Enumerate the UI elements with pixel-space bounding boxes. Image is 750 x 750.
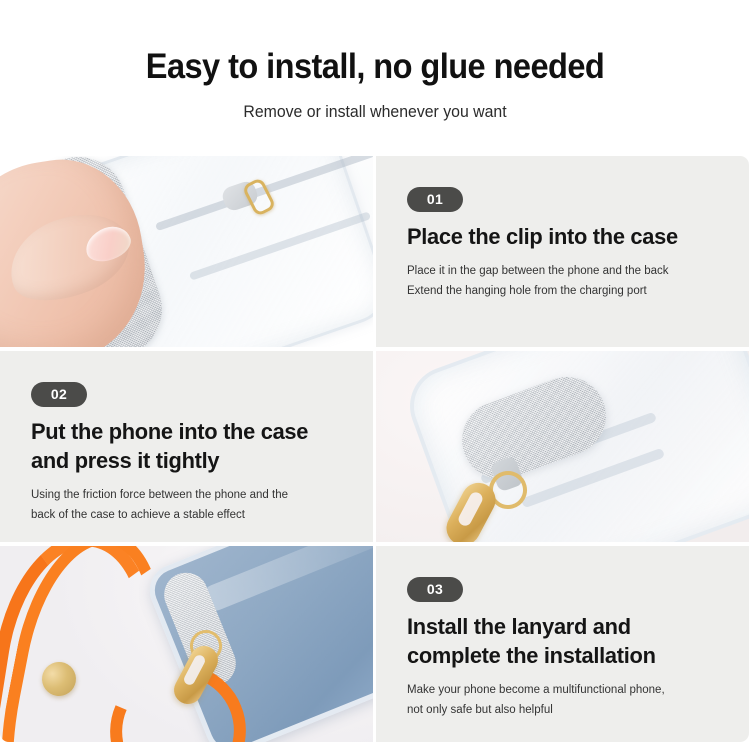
step-1-heading: Place the clip into the case bbox=[407, 222, 717, 251]
step-1-body: Place it in the gap between the phone an… bbox=[407, 261, 737, 301]
step-row-2: 02 Put the phone into the case and press… bbox=[0, 351, 750, 542]
step-1-body-line-2: Extend the hanging hole from the chargin… bbox=[407, 281, 737, 301]
step-2-badge: 02 bbox=[31, 382, 87, 407]
step-1-badge: 01 bbox=[407, 187, 463, 212]
step-3-text-panel: 03 Install the lanyard and complete the … bbox=[376, 546, 749, 742]
step-3-photo bbox=[0, 546, 373, 742]
header: Easy to install, no glue needed Remove o… bbox=[0, 0, 750, 122]
step-row-3: 03 Install the lanyard and complete the … bbox=[0, 546, 750, 742]
step-2-body-line-2: back of the case to achieve a stable eff… bbox=[31, 505, 361, 525]
step-1-photo bbox=[0, 156, 373, 347]
step-3-body-line-2: not only safe but also helpful bbox=[407, 700, 737, 720]
step-2-text-panel: 02 Put the phone into the case and press… bbox=[0, 351, 373, 542]
page-subtitle: Remove or install whenever you want bbox=[15, 102, 735, 122]
step-1-body-line-1: Place it in the gap between the phone an… bbox=[407, 261, 737, 281]
step-3-body-line-1: Make your phone become a multifunctional… bbox=[407, 680, 737, 700]
page-title: Easy to install, no glue needed bbox=[26, 47, 724, 87]
step-3-badge: 03 bbox=[407, 577, 463, 602]
step-2-heading: Put the phone into the case and press it… bbox=[31, 417, 341, 475]
step-1-text-panel: 01 Place the clip into the case Place it… bbox=[376, 156, 749, 347]
steps-grid: 01 Place the clip into the case Place it… bbox=[0, 156, 750, 742]
step-2-body: Using the friction force between the pho… bbox=[31, 485, 361, 525]
step-3-heading: Install the lanyard and complete the ins… bbox=[407, 612, 717, 670]
step-row-1: 01 Place the clip into the case Place it… bbox=[0, 156, 750, 347]
step-3-body: Make your phone become a multifunctional… bbox=[407, 680, 737, 720]
step-2-photo bbox=[376, 351, 749, 542]
step-2-body-line-1: Using the friction force between the pho… bbox=[31, 485, 361, 505]
